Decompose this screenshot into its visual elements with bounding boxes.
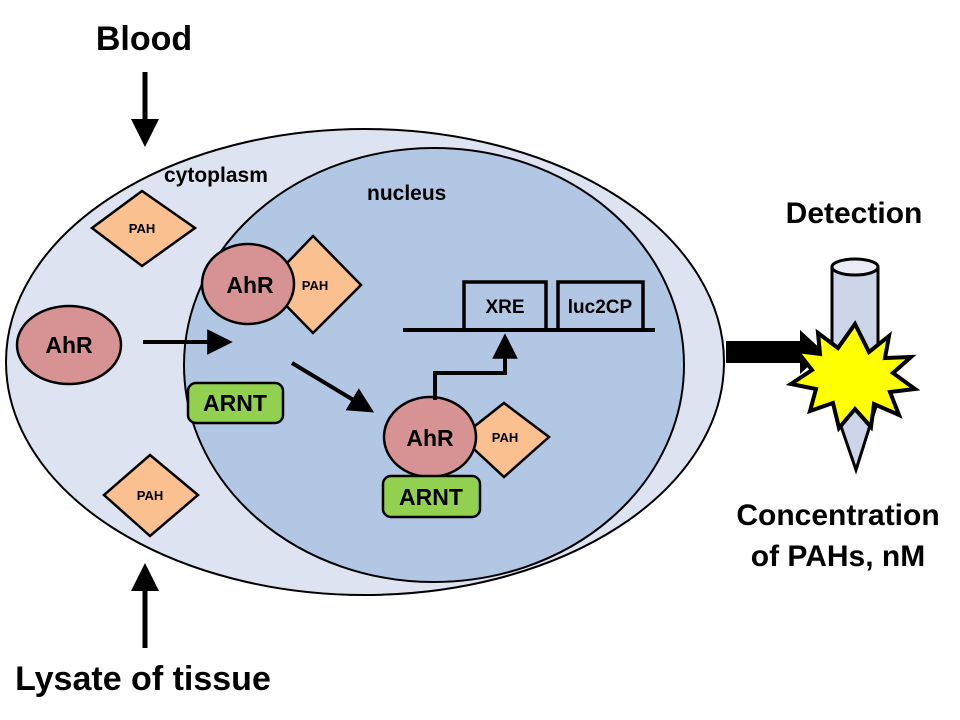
ahr-label: AhR	[406, 425, 454, 451]
lysate-label: Lysate of tissue	[15, 660, 271, 698]
pathway-diagram: Blood Lysate of tissue cytoplasm nucleus…	[0, 0, 960, 720]
readout-line-1: Concentration	[736, 499, 939, 532]
ahr-label: AhR	[226, 272, 274, 298]
pah-label: PAH	[137, 488, 163, 503]
ahr-receptor-cytoplasm: AhR	[17, 306, 121, 384]
xre-label: XRE	[485, 297, 524, 318]
nucleus-label: nucleus	[367, 182, 446, 205]
arnt-label: ARNT	[203, 390, 267, 416]
arnt-free: ARNT	[188, 383, 283, 423]
readout-line-2: of PAHs, nM	[751, 540, 925, 573]
cytoplasm-label: cytoplasm	[164, 164, 268, 187]
luc2cp-label: luc2CP	[568, 297, 633, 318]
pah-label: PAH	[129, 221, 155, 236]
figure-canvas: Blood Lysate of tissue cytoplasm nucleus…	[0, 0, 960, 720]
pah-label: PAH	[302, 278, 328, 293]
arnt-label: ARNT	[399, 484, 463, 510]
pah-label: PAH	[492, 430, 518, 445]
detection-title: Detection	[786, 197, 923, 230]
ahr-label: AhR	[45, 332, 93, 358]
blood-label: Blood	[96, 20, 192, 58]
